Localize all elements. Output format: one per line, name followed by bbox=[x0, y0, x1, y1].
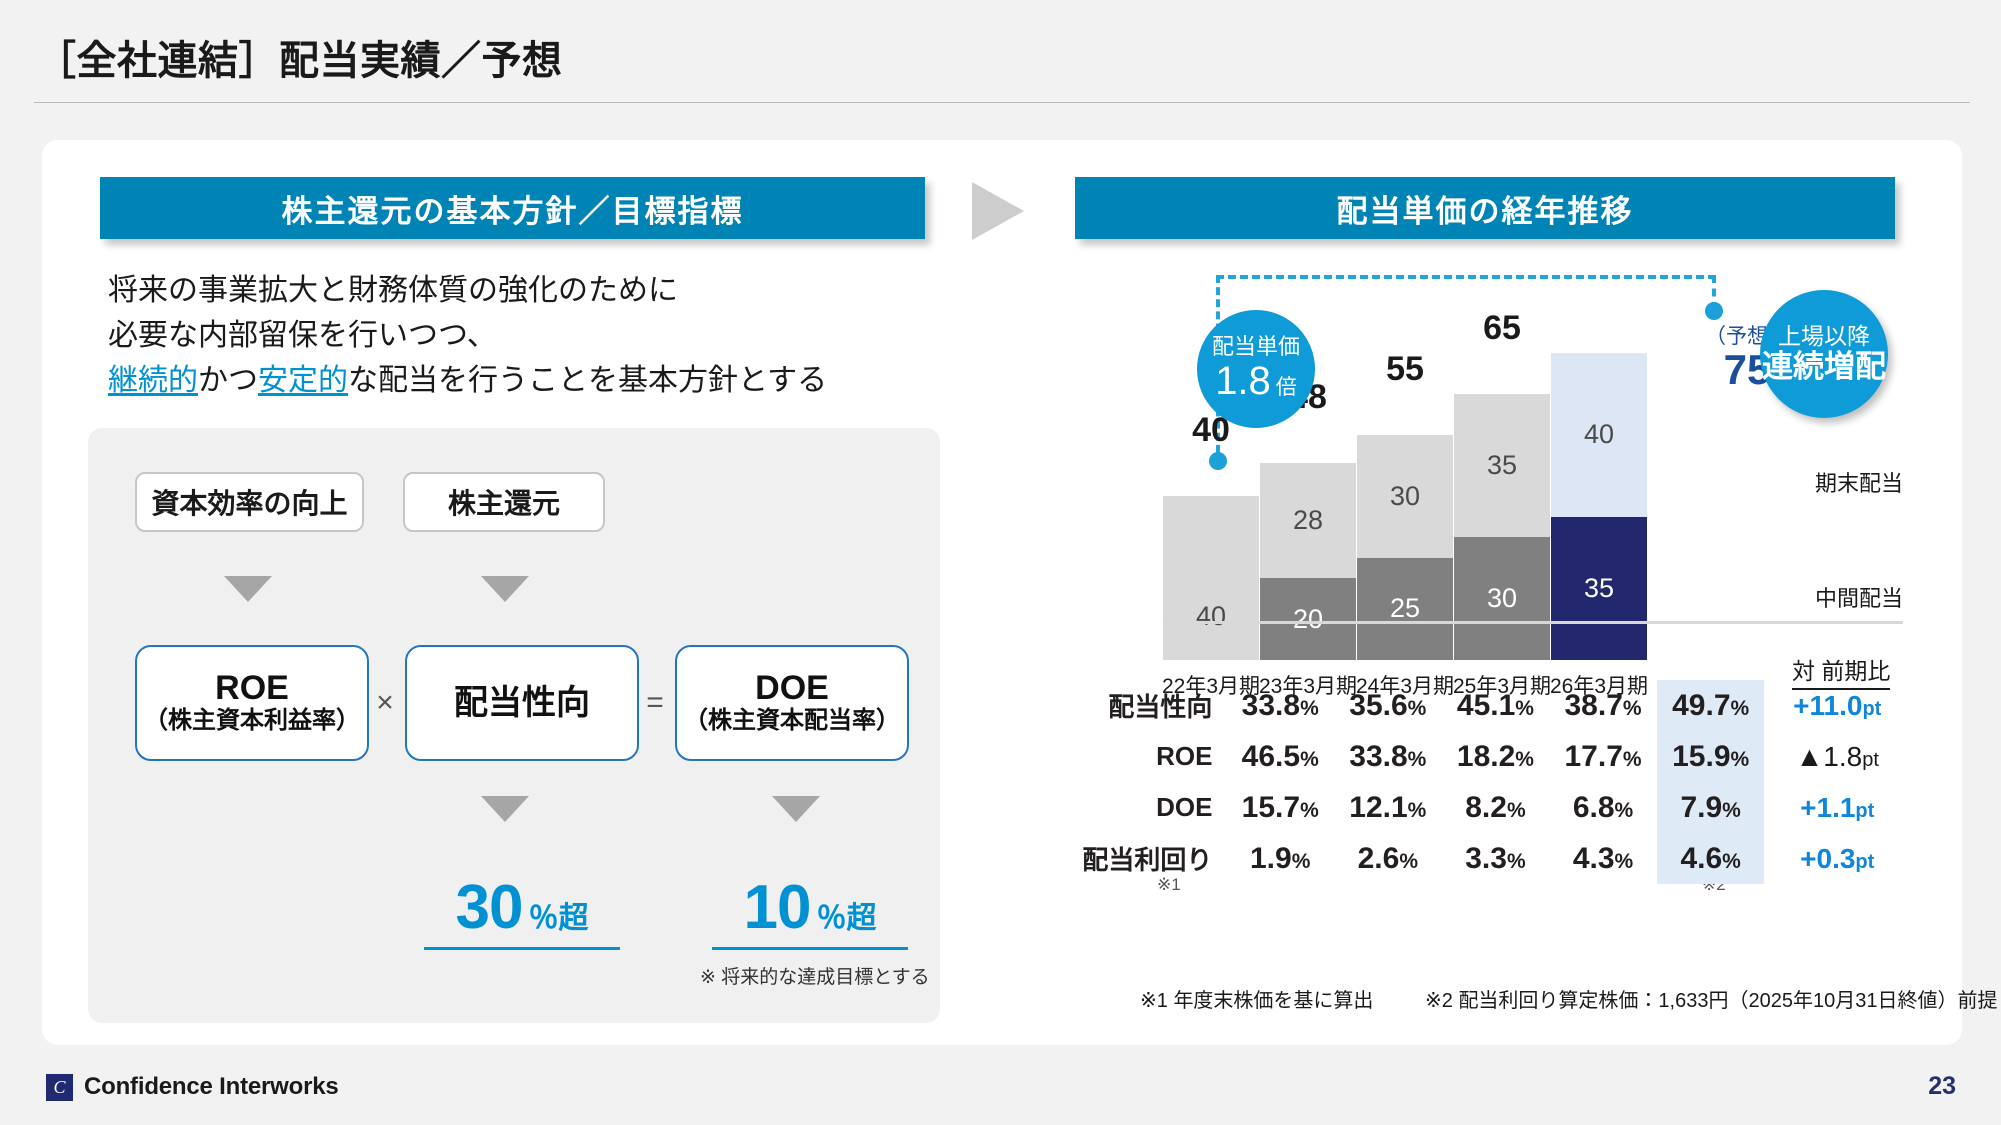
payout-ratio-label: 配当性向 bbox=[454, 685, 590, 722]
table-row: 配当性向33.8%35.6%45.1%38.7%49.7%+11.0pt bbox=[1075, 680, 1910, 731]
callout-multiple-unit: 倍 bbox=[1276, 376, 1297, 399]
bar-segment-interim: 20 bbox=[1260, 578, 1356, 660]
doe-sublabel: （株主資本配当率） bbox=[684, 706, 900, 736]
target-doe-value: 10 bbox=[744, 872, 811, 943]
title-divider bbox=[34, 102, 1970, 103]
metric-value: 1.9% bbox=[1226, 833, 1334, 884]
chart-footnotes: ※1 年度末株価を基に算出 ※2 配当利回り算定株価：1,633円（2025年1… bbox=[1140, 984, 1997, 1013]
bar-total-label: 55 bbox=[1357, 350, 1453, 389]
metric-name: 配当利回り bbox=[1075, 833, 1226, 884]
metric-value: 49.7% bbox=[1657, 680, 1765, 731]
page-number: 23 bbox=[1928, 1072, 1956, 1101]
formula-box-doe: DOE （株主資本配当率） bbox=[675, 645, 909, 761]
metric-name: 配当性向 bbox=[1075, 680, 1226, 731]
formula-box-roe: ROE （株主資本利益率） bbox=[135, 645, 369, 761]
target-doe: 10 ％超 bbox=[712, 872, 908, 950]
bar-segment-year-end: 40 bbox=[1551, 353, 1647, 517]
metric-value: 35.6% bbox=[1334, 680, 1442, 731]
metric-value: 15.9% bbox=[1657, 731, 1765, 782]
metric-value: 38.7% bbox=[1549, 680, 1657, 731]
bar-segment-year-end: 40 bbox=[1163, 496, 1259, 660]
company-logo-icon: C bbox=[46, 1074, 73, 1101]
bar-segment-label: 40 bbox=[1584, 421, 1614, 448]
metric-value: 6.8% bbox=[1549, 782, 1657, 833]
arrow-down-icon-return bbox=[481, 576, 529, 602]
bar-segment-label: 30 bbox=[1487, 585, 1517, 612]
chart-axis-line bbox=[1163, 621, 1903, 624]
metrics-table: 配当性向33.8%35.6%45.1%38.7%49.7%+11.0ptROE4… bbox=[1075, 680, 1910, 884]
policy-highlight-continuous: 継続的 bbox=[108, 364, 198, 397]
doe-label: DOE bbox=[755, 670, 829, 707]
bar-segment-label: 25 bbox=[1390, 595, 1420, 622]
bar-segment-interim: 30 bbox=[1454, 537, 1550, 660]
metric-delta: +11.0pt bbox=[1764, 680, 1910, 731]
callout-consecutive-increase: 上場以降 連続増配 bbox=[1760, 290, 1888, 418]
target-footnote: ※ 将来的な達成目標とする bbox=[700, 962, 930, 989]
legend-label-interim: 中間配当 bbox=[1815, 581, 1903, 613]
bar-group: 404022年3月期 bbox=[1163, 496, 1259, 660]
metric-value: 33.8% bbox=[1226, 680, 1334, 731]
bar-segment-label: 20 bbox=[1293, 606, 1323, 633]
page-title: ［全社連結］配当実績／予想 bbox=[36, 28, 563, 86]
metric-name: DOE bbox=[1075, 782, 1226, 833]
policy-line-1: 将来の事業拡大と財務体質の強化のために bbox=[108, 268, 827, 313]
bar-segment-label: 35 bbox=[1584, 575, 1614, 602]
bar-segment-label: 35 bbox=[1487, 452, 1517, 479]
roe-sublabel: （株主資本利益率） bbox=[144, 706, 360, 736]
metric-value: 4.3% bbox=[1549, 833, 1657, 884]
metric-value: 12.1% bbox=[1334, 782, 1442, 833]
metric-value: 45.1% bbox=[1442, 680, 1550, 731]
bar-segment-label: 40 bbox=[1196, 603, 1226, 630]
metric-delta: +0.3pt bbox=[1764, 833, 1910, 884]
callout-dividend-multiple: 配当単価 1.8 倍 bbox=[1197, 310, 1315, 428]
section-header-dividend-trend: 配当単価の経年推移 bbox=[1075, 177, 1895, 239]
company-name: Confidence Interworks bbox=[84, 1073, 339, 1101]
legend-label-year-end: 期末配当 bbox=[1815, 466, 1903, 498]
metric-value: 4.6% bbox=[1657, 833, 1765, 884]
callout-streak-main: 連続増配 bbox=[1762, 349, 1886, 385]
callout-multiple-value: 1.8 bbox=[1215, 359, 1271, 403]
bar-segment-interim: 25 bbox=[1357, 558, 1453, 661]
footer-logo: C Confidence Interworks bbox=[46, 1073, 339, 1101]
policy-line3-tail: な配当を行うことを基本方針とする bbox=[348, 364, 827, 397]
bar-segment-year-end: 28 bbox=[1260, 463, 1356, 578]
metric-value: 3.3% bbox=[1442, 833, 1550, 884]
arrow-down-icon-doe bbox=[772, 796, 820, 822]
metric-name: ROE bbox=[1075, 731, 1226, 782]
table-row: ROE46.5%33.8%18.2%17.7%15.9%▲1.8pt bbox=[1075, 731, 1910, 782]
policy-line-3: 継続的かつ安定的な配当を行うことを基本方針とする bbox=[108, 358, 827, 403]
operator-equals: = bbox=[635, 686, 675, 720]
metric-value: 17.7% bbox=[1549, 731, 1657, 782]
metric-delta: +1.1pt bbox=[1764, 782, 1910, 833]
metric-value: 2.6% bbox=[1334, 833, 1442, 884]
bar-group: 48282023年3月期 bbox=[1260, 463, 1356, 660]
pill-shareholder-return: 株主還元 bbox=[403, 472, 605, 532]
roe-label: ROE bbox=[215, 670, 289, 707]
metric-value: 33.8% bbox=[1334, 731, 1442, 782]
callout-multiple-title: 配当単価 bbox=[1212, 335, 1300, 359]
target-payout-value: 30 bbox=[456, 872, 523, 943]
operator-multiply: × bbox=[365, 686, 405, 720]
bar-segment-label: 28 bbox=[1293, 507, 1323, 534]
metric-delta: ▲1.8pt bbox=[1764, 731, 1910, 782]
arrow-down-icon-capital bbox=[224, 576, 272, 602]
policy-conjunction: かつ bbox=[198, 364, 258, 397]
policy-paragraph: 将来の事業拡大と財務体質の強化のために 必要な内部留保を行いつつ、 継続的かつ安… bbox=[108, 268, 827, 403]
metric-value: 8.2% bbox=[1442, 782, 1550, 833]
policy-line-2: 必要な内部留保を行いつつ、 bbox=[108, 313, 827, 358]
arrow-down-icon-payout bbox=[481, 796, 529, 822]
footnote-1: ※1 年度末株価を基に算出 bbox=[1140, 990, 1373, 1012]
bar-group: 75403526年3月期 bbox=[1551, 353, 1647, 661]
metric-value: 18.2% bbox=[1442, 731, 1550, 782]
bar-total-label: 65 bbox=[1454, 309, 1550, 348]
callout-multiple-value-wrap: 1.8 倍 bbox=[1215, 359, 1297, 403]
bar-segment-year-end: 30 bbox=[1357, 435, 1453, 558]
metric-value: 7.9% bbox=[1657, 782, 1765, 833]
metric-value: 46.5% bbox=[1226, 731, 1334, 782]
target-payout-unit: ％超 bbox=[528, 893, 588, 937]
panel-arrow-icon bbox=[972, 182, 1024, 240]
table-row: 配当利回り1.9%2.6%3.3%4.3%4.6%+0.3pt bbox=[1075, 833, 1910, 884]
policy-highlight-stable: 安定的 bbox=[258, 364, 348, 397]
pill-capital-efficiency: 資本効率の向上 bbox=[135, 472, 364, 532]
metric-value: 15.7% bbox=[1226, 782, 1334, 833]
callout-streak-title: 上場以降 bbox=[1778, 323, 1870, 349]
target-payout-ratio: 30 ％超 bbox=[424, 872, 620, 950]
formula-box-payout-ratio: 配当性向 bbox=[405, 645, 639, 761]
bar-segment-label: 30 bbox=[1390, 483, 1420, 510]
bar-group: 55302524年3月期 bbox=[1357, 435, 1453, 661]
bar-segment-interim: 35 bbox=[1551, 517, 1647, 661]
section-header-policy: 株主還元の基本方針／目標指標 bbox=[100, 177, 925, 239]
footnote-2: ※2 配当利回り算定株価：1,633円（2025年10月31日終値）前提 bbox=[1425, 990, 1997, 1012]
bar-segment-year-end: 35 bbox=[1454, 394, 1550, 538]
target-doe-unit: ％超 bbox=[816, 893, 876, 937]
table-row: DOE15.7%12.1%8.2%6.8%7.9%+1.1pt bbox=[1075, 782, 1910, 833]
